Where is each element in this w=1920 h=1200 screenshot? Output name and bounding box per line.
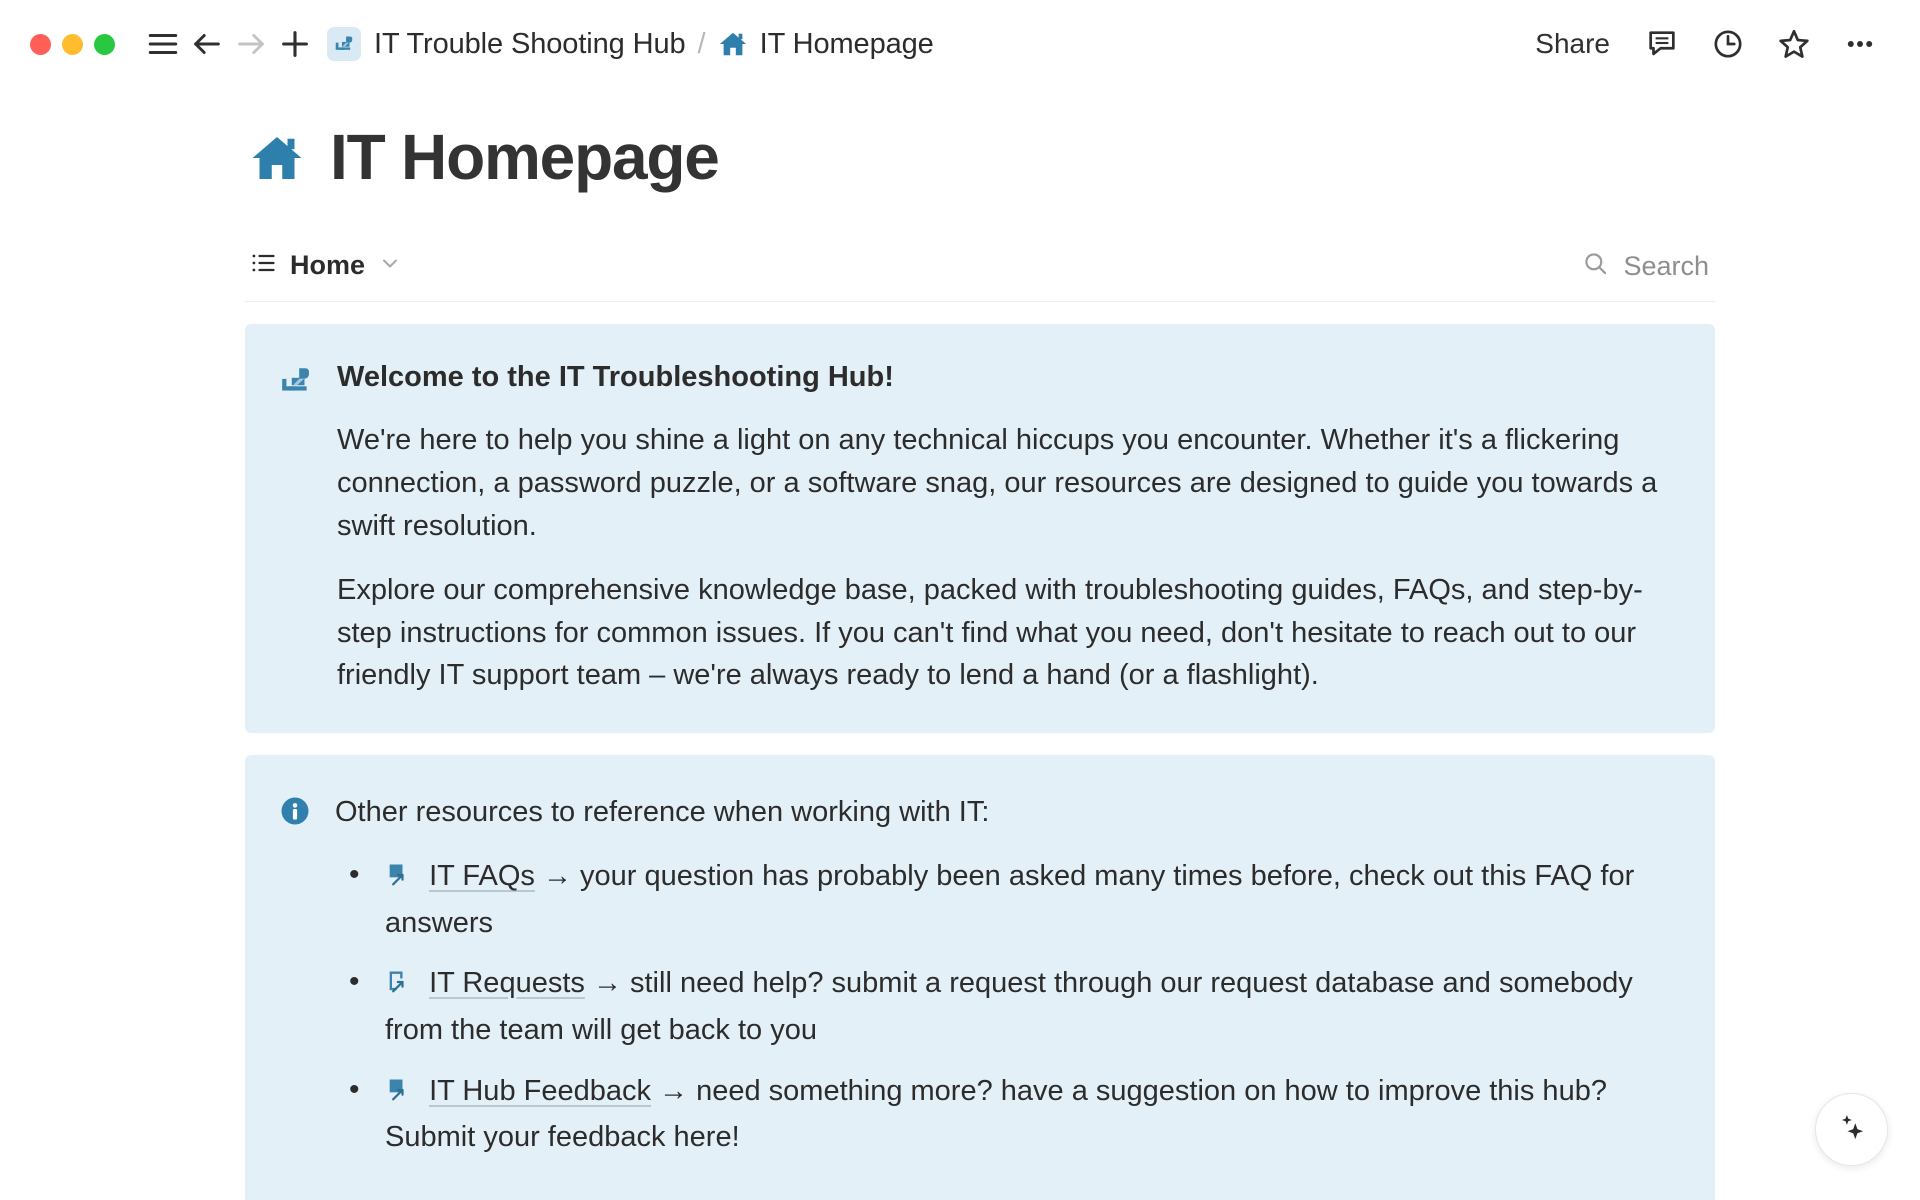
- tab-home-label: Home: [290, 250, 365, 281]
- content-column: IT Homepage Home: [190, 124, 1730, 1200]
- view-tabs-bar: Home Search: [245, 239, 1715, 302]
- house-icon[interactable]: [249, 130, 305, 186]
- link-it-hub-feedback[interactable]: IT Hub Feedback: [429, 1075, 651, 1107]
- arrow-right-icon[interactable]: [229, 22, 273, 66]
- callout-welcome: Welcome to the IT Troubleshooting Hub! W…: [245, 324, 1715, 733]
- ai-assistant-button[interactable]: [1815, 1093, 1888, 1166]
- clock-history-icon[interactable]: [1706, 22, 1750, 66]
- window-minimize-button[interactable]: [62, 34, 83, 55]
- ai-sparkles-icon: [1834, 1109, 1870, 1150]
- breadcrumb-separator: /: [698, 28, 706, 61]
- page-title-row: IT Homepage: [245, 124, 1715, 191]
- callout-welcome-heading: Welcome to the IT Troubleshooting Hub!: [337, 358, 1675, 397]
- link-it-requests[interactable]: IT Requests: [429, 967, 585, 999]
- page-body: IT Homepage Home: [0, 124, 1920, 1200]
- breadcrumb-parent[interactable]: IT Trouble Shooting Hub: [374, 28, 686, 61]
- page-link-filled-icon: [385, 859, 413, 902]
- plus-icon[interactable]: [273, 22, 317, 66]
- callout-resources-intro: Other resources to reference when workin…: [335, 789, 1675, 833]
- list-view-icon: [249, 249, 277, 282]
- page-link-filled-icon: [385, 1074, 413, 1117]
- window-close-button[interactable]: [30, 34, 51, 55]
- callout-resources-body: Other resources to reference when workin…: [335, 789, 1675, 1177]
- breadcrumb: IT Trouble Shooting Hub / IT Homepage: [327, 27, 934, 61]
- window-traffic-lights: [30, 34, 115, 55]
- callout-welcome-paragraph-1: We're here to help you shine a light on …: [337, 419, 1675, 547]
- resources-list: IT FAQs → your question has probably bee…: [335, 855, 1675, 1159]
- toolbar-actions: Share: [1527, 22, 1882, 66]
- callout-welcome-paragraph-2: Explore our comprehensive knowledge base…: [337, 569, 1675, 697]
- page-title[interactable]: IT Homepage: [330, 124, 719, 191]
- search-label: Search: [1623, 251, 1709, 282]
- technologist-icon: [279, 358, 313, 697]
- technologist-icon: [327, 27, 361, 61]
- chevron-down-icon[interactable]: [378, 251, 402, 280]
- arrow-left-icon[interactable]: [185, 22, 229, 66]
- list-item: IT FAQs → your question has probably bee…: [335, 855, 1675, 944]
- list-item: IT Requests → still need help? submit a …: [335, 962, 1675, 1051]
- comment-bubble-icon[interactable]: [1640, 22, 1684, 66]
- house-icon: [718, 29, 748, 59]
- breadcrumb-current[interactable]: IT Homepage: [760, 28, 934, 61]
- share-button[interactable]: Share: [1527, 24, 1618, 64]
- callout-resources: Other resources to reference when workin…: [245, 755, 1715, 1200]
- search-control[interactable]: Search: [1582, 250, 1715, 290]
- ellipsis-icon[interactable]: [1838, 22, 1882, 66]
- link-it-faqs[interactable]: IT FAQs: [429, 860, 535, 892]
- page-link-outline-icon: [385, 966, 413, 1009]
- info-circle-icon: [279, 789, 311, 1177]
- tab-home[interactable]: Home: [249, 249, 402, 292]
- search-icon: [1582, 250, 1609, 282]
- window-toolbar: IT Trouble Shooting Hub / IT Homepage Sh…: [0, 0, 1920, 88]
- callout-welcome-body: Welcome to the IT Troubleshooting Hub! W…: [337, 358, 1675, 697]
- window-maximize-button[interactable]: [94, 34, 115, 55]
- list-item-text: → your question has probably been asked …: [385, 860, 1634, 939]
- list-item: IT Hub Feedback → need something more? h…: [335, 1070, 1675, 1159]
- hamburger-menu-icon[interactable]: [141, 22, 185, 66]
- star-icon[interactable]: [1772, 22, 1816, 66]
